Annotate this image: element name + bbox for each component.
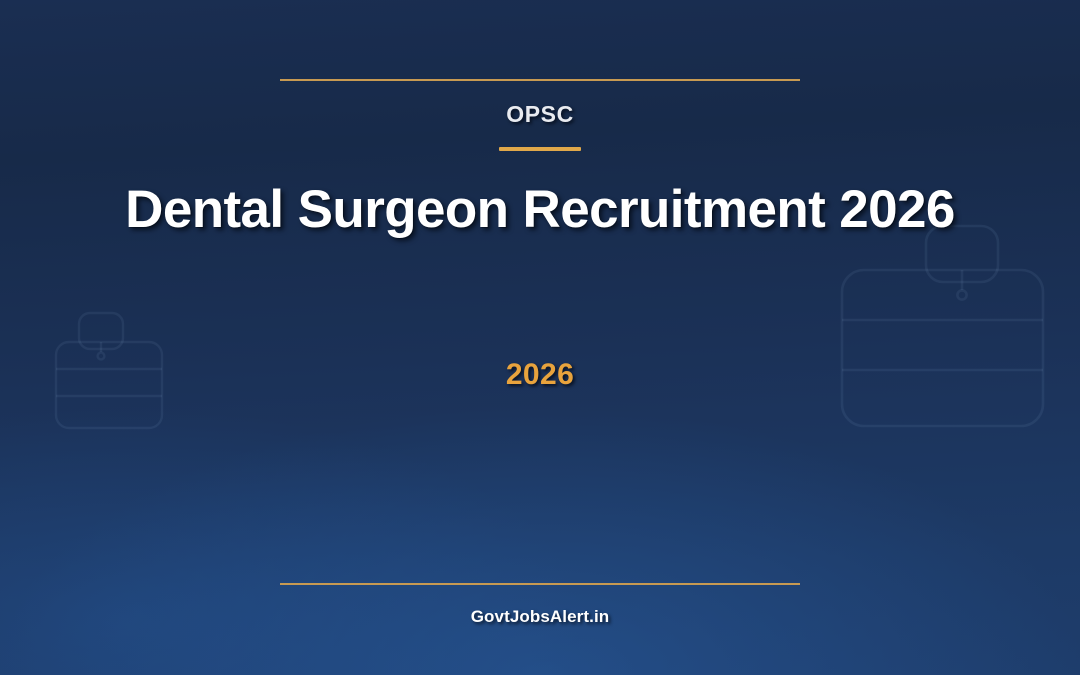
website-footer: GovtJobsAlert.in: [0, 608, 1080, 625]
organization-name: OPSC: [0, 103, 1080, 126]
poster-content: OPSC Dental Surgeon Recruitment 2026 202…: [0, 0, 1080, 675]
organization-accent-bar: [499, 147, 581, 151]
year-subtitle: 2026: [0, 360, 1080, 390]
divider-top: [280, 79, 800, 81]
divider-bottom: [280, 583, 800, 585]
poster-canvas: OPSC Dental Surgeon Recruitment 2026 202…: [0, 0, 1080, 675]
organization-block: OPSC: [0, 103, 1080, 151]
page-title: Dental Surgeon Recruitment 2026: [0, 172, 1080, 247]
